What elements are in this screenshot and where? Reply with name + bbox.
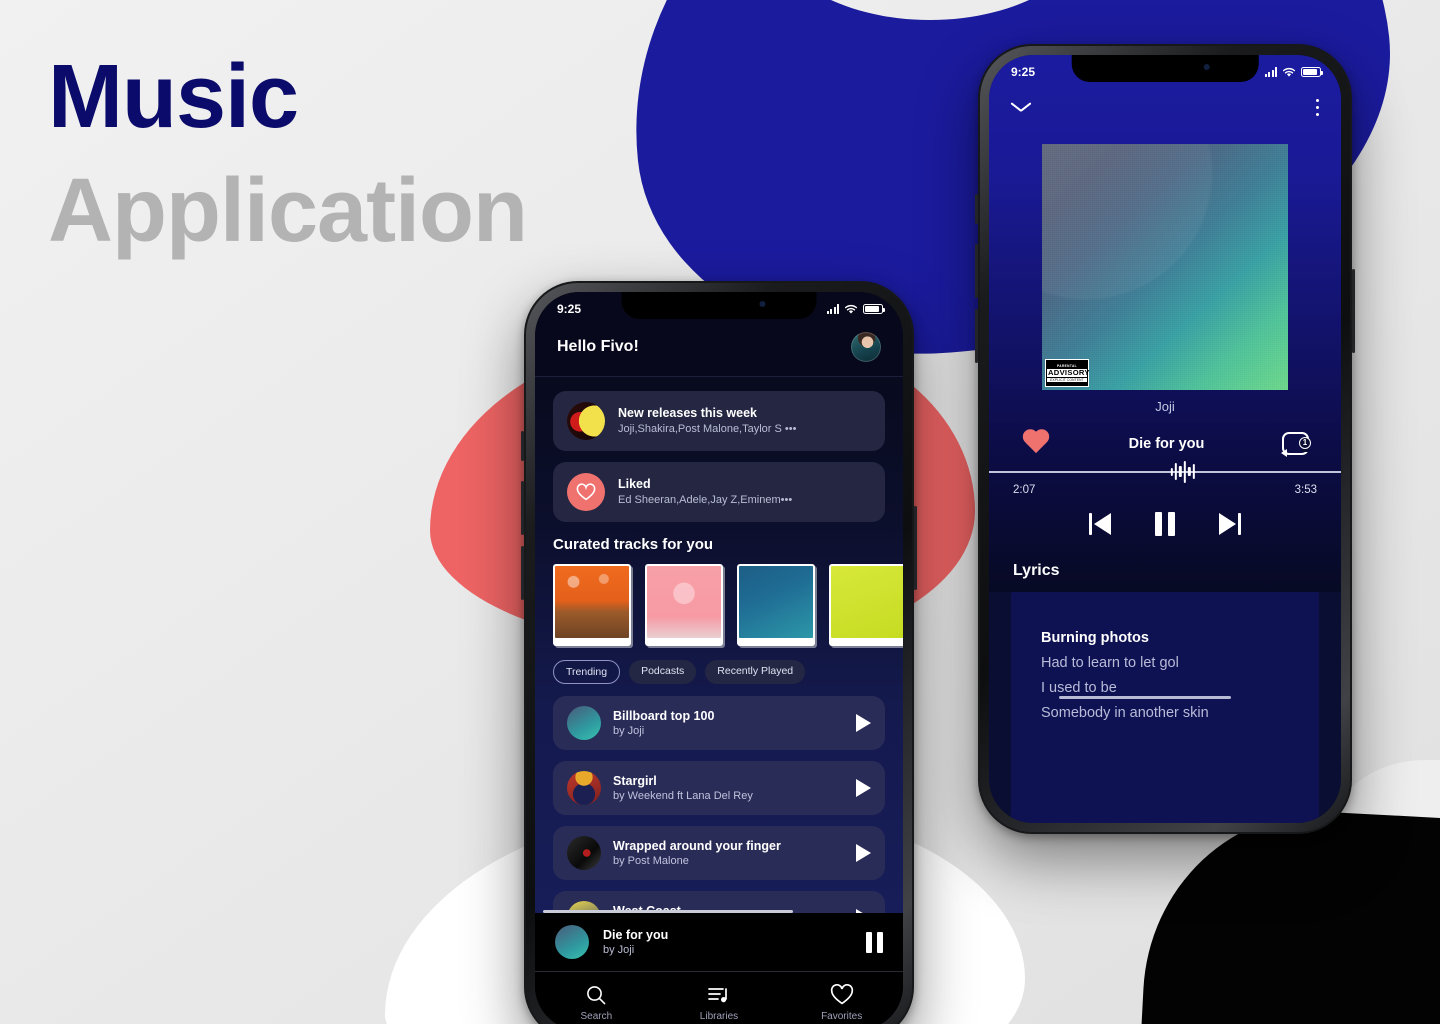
track-row[interactable]: Wrapped around your finger by Post Malon…	[553, 826, 885, 880]
filter-chips: Trending Podcasts Recently Played	[553, 660, 885, 684]
cover-teal[interactable]	[737, 564, 815, 646]
bottom-tab-bar: Search Libraries	[535, 972, 903, 1024]
pause-icon[interactable]	[866, 932, 883, 953]
tab-label: Libraries	[700, 1011, 738, 1022]
cover-orange[interactable]	[553, 564, 631, 646]
shelf-title: Liked	[618, 476, 792, 492]
mute-switch[interactable]	[521, 431, 524, 461]
tab-label: Favorites	[821, 1011, 862, 1022]
battery-icon	[1301, 67, 1321, 77]
status-time: 9:25	[1011, 65, 1035, 79]
shelf-new-releases[interactable]: New releases this week Joji,Shakira,Post…	[553, 391, 885, 451]
section-title-curated: Curated tracks for you	[553, 536, 885, 553]
heart-icon	[567, 473, 605, 511]
tab-libraries[interactable]: Libraries	[658, 984, 779, 1022]
poster-canvas: Music Application 9:25	[0, 0, 1440, 1024]
pause-icon[interactable]	[1155, 512, 1175, 536]
now-playing-row: Die for you 1	[989, 414, 1341, 457]
repeat-badge: 1	[1299, 437, 1311, 449]
mini-player-artwork	[555, 925, 589, 959]
skip-next-icon[interactable]	[1219, 513, 1241, 535]
current-time: 2:07	[1013, 484, 1035, 496]
lyric-line: Burning photos	[1041, 626, 1319, 651]
home-content: New releases this week Joji,Shakira,Post…	[535, 377, 903, 913]
kebab-menu-icon[interactable]	[1316, 99, 1319, 116]
waveform-scrubber-handle[interactable]	[1170, 461, 1194, 483]
tab-label: Search	[580, 1011, 612, 1022]
status-time: 9:25	[557, 302, 581, 316]
shelf-liked[interactable]: Liked Ed Sheeran,Adele,Jay Z,Eminem•••	[553, 462, 885, 522]
play-icon[interactable]	[856, 714, 871, 732]
chip-recently-played[interactable]: Recently Played	[705, 660, 805, 684]
wifi-icon	[1282, 67, 1296, 78]
lyric-line: Had to learn to let gol	[1041, 651, 1319, 676]
lyrics-scrollbar[interactable]	[1059, 696, 1231, 699]
chip-podcasts[interactable]: Podcasts	[629, 660, 696, 684]
repeat-one-icon[interactable]: 1	[1282, 432, 1309, 455]
mini-player-title: Die for you	[603, 927, 852, 943]
scrollbar[interactable]	[543, 910, 793, 913]
greeting-title: Hello Fivo!	[557, 338, 639, 356]
playback-controls	[989, 496, 1341, 536]
phone-mockup-player: 9:25	[978, 44, 1352, 834]
player-nav-bar	[989, 91, 1341, 126]
shelf-title: New releases this week	[618, 405, 796, 421]
wifi-icon	[844, 304, 858, 315]
advisory-mid-text: ADVISORY	[1047, 369, 1087, 377]
front-camera	[1204, 64, 1210, 70]
advisory-bottom-text: EXPLICIT CONTENT	[1047, 378, 1087, 382]
chip-trending[interactable]: Trending	[553, 660, 620, 684]
chevron-down-icon[interactable]	[1011, 102, 1031, 113]
progress-slider[interactable]	[989, 471, 1341, 473]
volume-down-button[interactable]	[975, 309, 978, 363]
track-row[interactable]: Billboard top 100 by Joji	[553, 696, 885, 750]
signal-bars-icon	[1265, 67, 1278, 77]
parental-advisory-label: PARENTAL ADVISORY EXPLICIT CONTENT	[1045, 359, 1089, 387]
play-icon[interactable]	[856, 844, 871, 862]
track-thumbnail	[567, 836, 601, 870]
heart-filled-icon[interactable]	[1021, 430, 1051, 457]
power-button[interactable]	[914, 506, 917, 590]
cover-yellow[interactable]	[829, 564, 903, 646]
track-title: Stargirl	[613, 773, 844, 789]
track-title: Wrapped around your finger	[613, 838, 844, 854]
volume-down-button[interactable]	[521, 546, 524, 600]
track-thumbnail	[567, 706, 601, 740]
track-row[interactable]: Stargirl by Weekend ft Lana Del Rey	[553, 761, 885, 815]
lyrics-panel[interactable]: Burning photos Had to learn to let gol I…	[1011, 592, 1319, 823]
front-camera	[760, 301, 766, 307]
lyric-line: Somebody in another skin	[1041, 701, 1319, 726]
play-icon[interactable]	[856, 779, 871, 797]
search-icon	[585, 984, 607, 1006]
volume-up-button[interactable]	[521, 481, 524, 535]
curated-covers-carousel[interactable]	[553, 564, 885, 646]
now-playing-title: Die for you	[1129, 436, 1205, 452]
track-thumbnail	[567, 771, 601, 805]
device-notch	[621, 292, 816, 319]
lyrics-heading: Lyrics	[989, 536, 1341, 592]
volume-up-button[interactable]	[975, 244, 978, 298]
device-notch	[1072, 55, 1259, 82]
headline-secondary: Application	[48, 166, 527, 258]
power-button[interactable]	[1352, 269, 1355, 353]
battery-icon	[863, 304, 883, 314]
library-music-icon	[707, 984, 731, 1006]
album-artwork: PARENTAL ADVISORY EXPLICIT CONTENT	[1042, 144, 1288, 390]
tab-favorites[interactable]: Favorites	[781, 984, 902, 1022]
avatar[interactable]	[851, 332, 881, 362]
player-screen: 9:25	[989, 55, 1341, 823]
mini-player[interactable]: Die for you by Joji	[535, 913, 903, 972]
home-screen: 9:25 Hello Fivo!	[535, 292, 903, 1024]
track-artist: by Weekend ft Lana Del Rey	[613, 789, 844, 803]
track-artist: by Post Malone	[613, 854, 844, 868]
track-title: Billboard top 100	[613, 708, 844, 724]
black-blob-decoration	[1137, 803, 1440, 1024]
headline-primary: Music	[48, 52, 527, 144]
cover-pink[interactable]	[645, 564, 723, 646]
total-time: 3:53	[1295, 484, 1317, 496]
phone-mockup-home: 9:25 Hello Fivo!	[524, 281, 914, 1024]
heart-outline-icon	[830, 984, 854, 1006]
shelf-subtitle: Ed Sheeran,Adele,Jay Z,Eminem•••	[618, 493, 792, 508]
mini-player-artist: by Joji	[603, 943, 852, 957]
artist-name: Joji	[989, 390, 1341, 414]
play-icon[interactable]	[856, 909, 871, 913]
new-releases-art	[567, 402, 605, 440]
player-hero: PARENTAL ADVISORY EXPLICIT CONTENT Joji …	[989, 55, 1341, 592]
skip-previous-icon[interactable]	[1089, 513, 1111, 535]
mute-switch[interactable]	[975, 194, 978, 224]
shelf-subtitle: Joji,Shakira,Post Malone,Taylor S •••	[618, 422, 796, 437]
track-artist: by Joji	[613, 724, 844, 738]
poster-headline: Music Application	[48, 52, 527, 258]
progress-section: 2:07 3:53	[989, 457, 1341, 496]
signal-bars-icon	[827, 304, 840, 314]
tab-search[interactable]: Search	[536, 984, 657, 1022]
